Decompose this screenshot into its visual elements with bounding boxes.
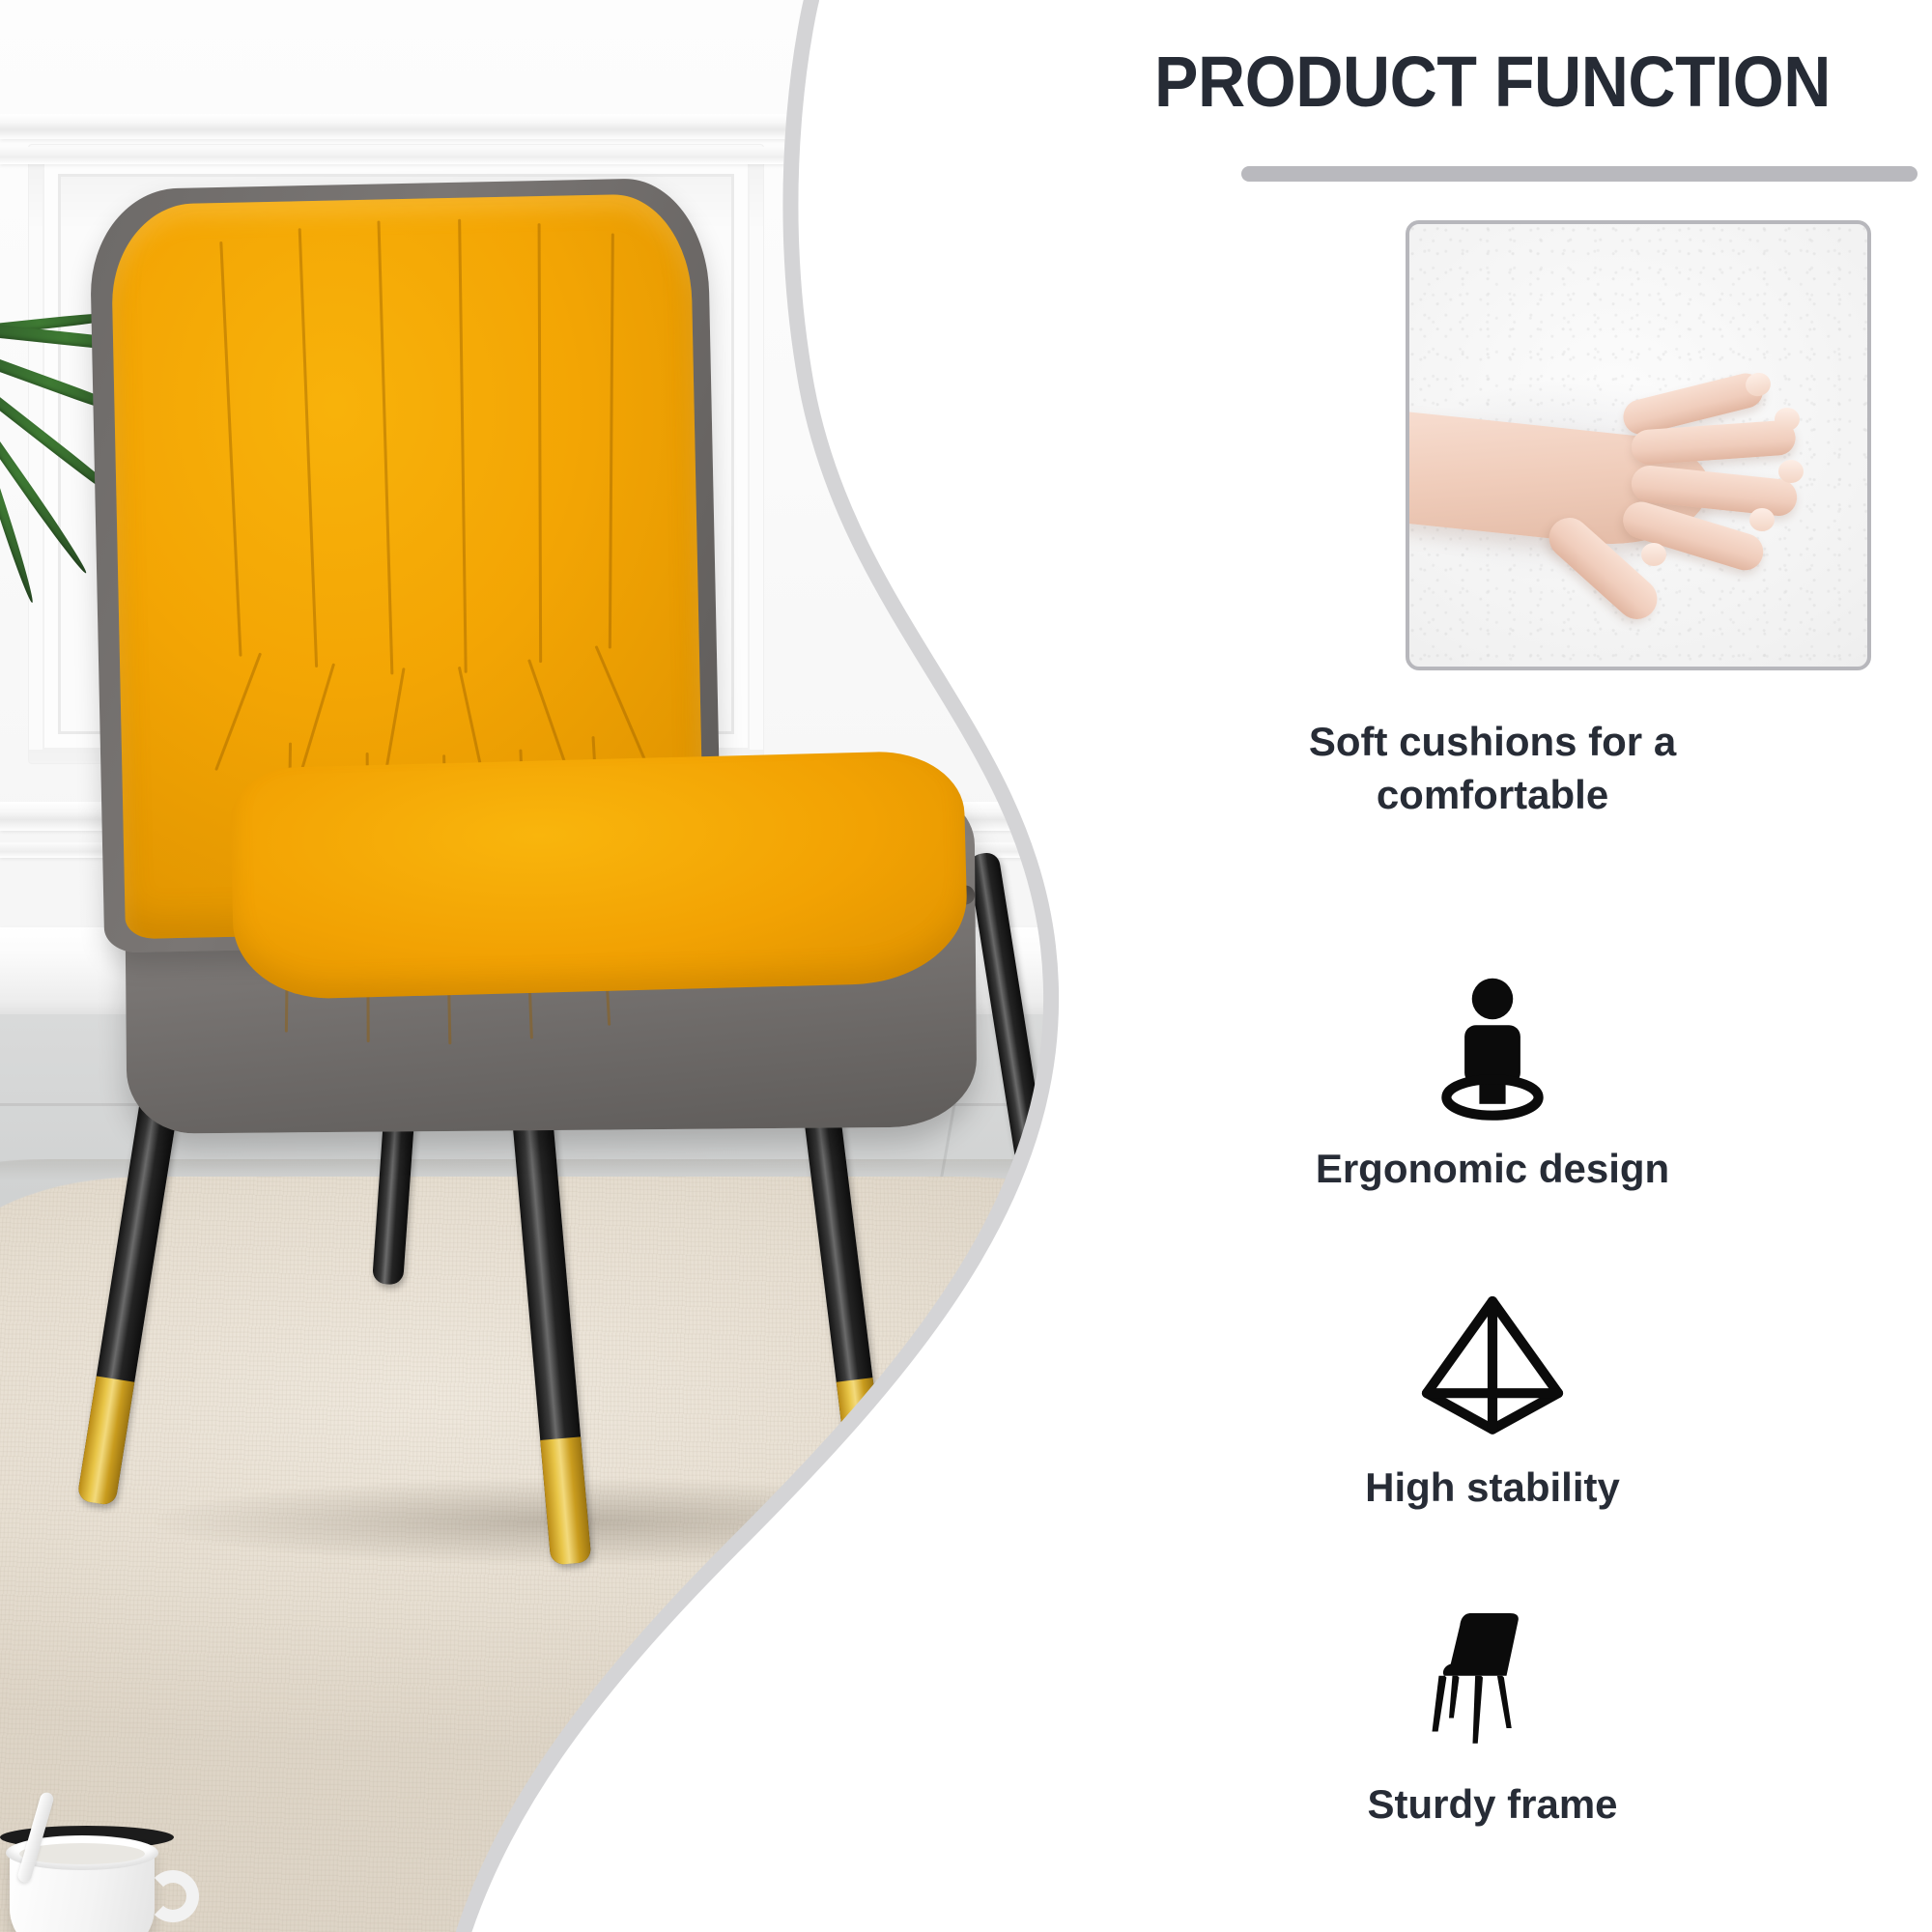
stitch-line [458, 219, 468, 673]
stitch-line [609, 234, 614, 649]
page-title: PRODUCT FUNCTION [1088, 41, 1896, 123]
feature-label: Ergonomic design [1053, 1146, 1932, 1192]
stitch-line [538, 223, 543, 663]
dining-chair [97, 184, 1121, 1690]
plant-leaf [0, 412, 37, 604]
feature-ergonomic-design: Ergonomic design [1053, 956, 1932, 1192]
cushion-caption: Soft cushions for a comfortable [1053, 715, 1932, 822]
wall-molding-upper-2 [0, 147, 1159, 164]
info-panel: PRODUCT FUNCTION Soft cushions for a com… [1053, 0, 1932, 1932]
cushion-image-card [1406, 220, 1871, 670]
icon-slot [1053, 1275, 1932, 1459]
fingernail [1641, 543, 1666, 566]
stitch-line [219, 241, 241, 657]
fingernail [1749, 508, 1775, 531]
chair-seat-cushion [229, 750, 969, 1001]
title-divider-bar [1241, 166, 1918, 182]
chair-leg-tip [837, 1378, 887, 1497]
fingernail [1775, 408, 1800, 431]
stitch-line [298, 228, 318, 668]
wireframe-pyramid-icon [1410, 1285, 1575, 1449]
icon-slot [1053, 956, 1932, 1140]
wall-molding-upper [0, 114, 1159, 139]
feature-sturdy-frame: Sturdy frame [1053, 1592, 1932, 1828]
icon-slot [1053, 1592, 1932, 1776]
stitch-line [377, 221, 393, 675]
cup-handle [147, 1870, 199, 1922]
feature-label: Sturdy frame [1053, 1781, 1932, 1828]
chair-silhouette-icon [1408, 1600, 1577, 1769]
coffee-cup [0, 1814, 213, 1932]
fingernail [1778, 460, 1804, 483]
person-in-circle-icon [1410, 966, 1575, 1130]
stitch-line [595, 645, 647, 762]
stitch-line [214, 652, 262, 771]
chair-leg-tip [372, 1283, 403, 1285]
feature-label: High stability [1053, 1464, 1932, 1511]
feature-high-stability: High stability [1053, 1275, 1932, 1511]
product-feature-banner: PRODUCT FUNCTION Soft cushions for a com… [0, 0, 1932, 1932]
